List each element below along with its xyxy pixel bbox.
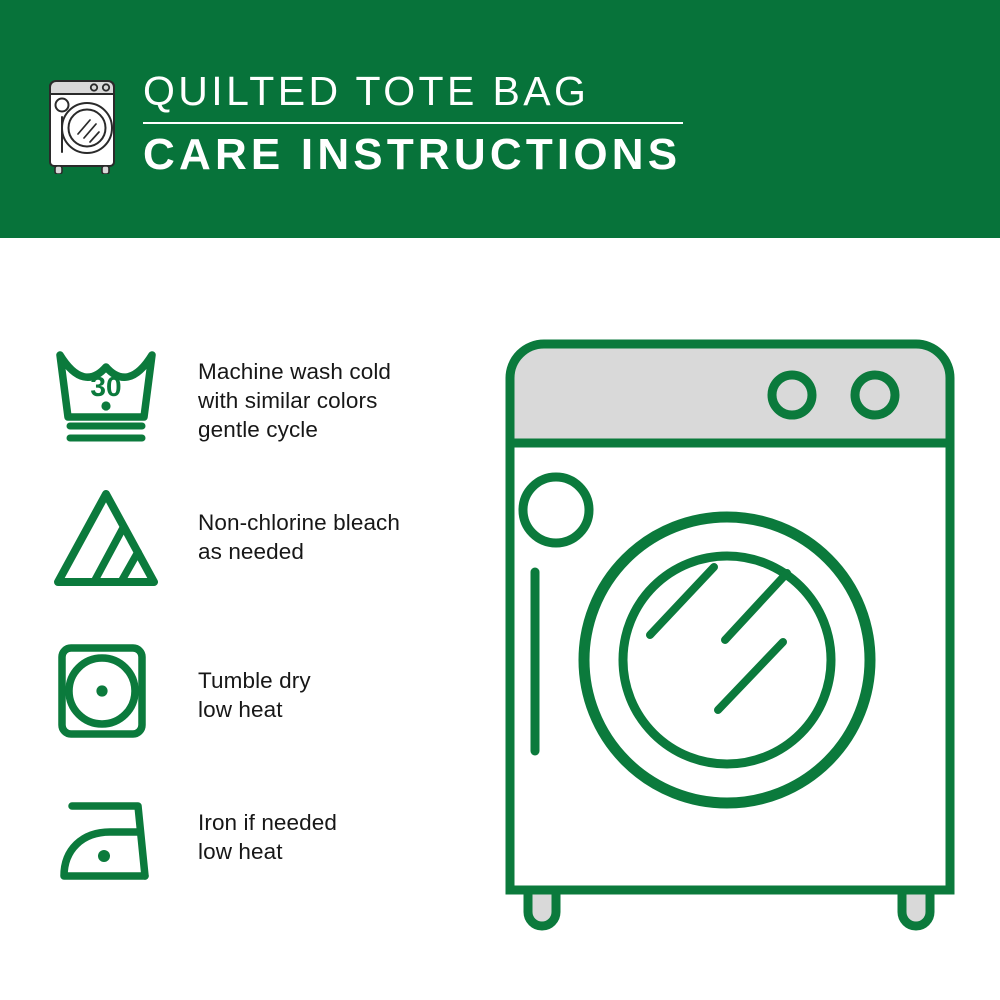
header-band: QUILTED TOTE BAG CARE INSTRUCTIONS (0, 0, 1000, 238)
header-title-block: QUILTED TOTE BAG CARE INSTRUCTIONS (143, 68, 703, 179)
care-label-line: Non-chlorine bleach (198, 508, 400, 537)
care-label-line: with similar colors (198, 386, 391, 415)
care-label-bleach: Non-chlorine bleach as needed (162, 486, 400, 566)
care-label-machine-wash: Machine wash cold with similar colors ge… (162, 341, 391, 444)
care-instructions-page: QUILTED TOTE BAG CARE INSTRUCTIONS 30 (0, 0, 1000, 1000)
care-row-bleach: Non-chlorine bleach as needed (50, 486, 470, 590)
care-label-iron: Iron if needed low heat (162, 790, 337, 866)
care-instruction-list: 30 Machine wash cold with similar colors… (0, 238, 470, 1000)
wash-temperature-value: 30 (90, 371, 121, 402)
title-divider (143, 122, 683, 124)
care-label-line: Machine wash cold (198, 357, 391, 386)
care-row-tumble-dry: Tumble dry low heat (50, 642, 470, 746)
care-label-line: Tumble dry (198, 666, 311, 695)
iron-low-heat-symbol (50, 790, 162, 894)
tumble-dry-low-heat-symbol (50, 642, 162, 746)
care-row-iron: Iron if needed low heat (50, 790, 470, 894)
leg-right (902, 890, 930, 926)
page-title-secondary: CARE INSTRUCTIONS (143, 131, 703, 179)
care-label-line: Iron if needed (198, 808, 337, 837)
care-label-tumble-dry: Tumble dry low heat (162, 642, 311, 724)
care-label-line: low heat (198, 695, 311, 724)
front-load-washing-machine-illustration (490, 330, 970, 940)
washing-machine-icon (42, 66, 128, 174)
machine-wash-30-symbol: 30 (50, 341, 162, 445)
care-row-machine-wash: 30 Machine wash cold with similar colors… (50, 341, 470, 445)
page-title-primary: QUILTED TOTE BAG (143, 68, 703, 114)
care-label-line: as needed (198, 537, 400, 566)
non-chlorine-bleach-triangle-symbol (50, 486, 162, 590)
care-label-line: low heat (198, 837, 337, 866)
leg-left (528, 890, 556, 926)
care-label-line: gentle cycle (198, 415, 391, 444)
